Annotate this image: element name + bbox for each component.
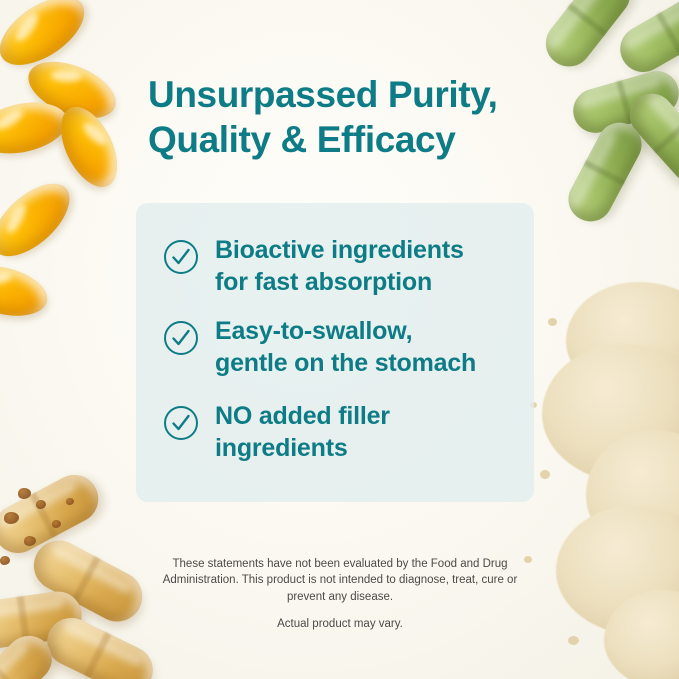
check-circle-icon bbox=[163, 405, 199, 441]
benefit-line-1: Bioactive ingredients bbox=[215, 236, 464, 264]
benefit-text: Easy-to-swallow, gentle on the stomach bbox=[215, 316, 515, 379]
headline-line-2: Quality & Efficacy bbox=[148, 117, 578, 162]
powder-speck bbox=[540, 470, 550, 479]
headline-line-1: Unsurpassed Purity, bbox=[148, 72, 578, 117]
benefit-text: Bioactive ingredients for fast absorptio… bbox=[215, 235, 515, 298]
product-infographic: Unsurpassed Purity, Quality & Efficacy B… bbox=[0, 0, 679, 679]
granule-icon bbox=[0, 556, 10, 565]
benefit-item: Bioactive ingredients for fast absorptio… bbox=[163, 235, 515, 298]
check-circle-icon bbox=[163, 320, 199, 356]
page-title: Unsurpassed Purity, Quality & Efficacy bbox=[148, 72, 578, 162]
softgel-capsule-icon bbox=[0, 171, 82, 270]
benefits-card: Bioactive ingredients for fast absorptio… bbox=[136, 203, 534, 502]
benefit-line-2: for fast absorption bbox=[215, 268, 432, 296]
benefit-item: NO added filler ingredients bbox=[163, 401, 515, 464]
benefit-text: NO added filler ingredients bbox=[215, 401, 515, 464]
benefit-line-1: NO added filler bbox=[215, 402, 390, 430]
benefit-line-1: Easy-to-swallow, bbox=[215, 317, 412, 345]
benefit-line-2: ingredients bbox=[215, 434, 348, 462]
check-circle-icon bbox=[163, 239, 199, 275]
softgel-capsule-icon bbox=[0, 258, 52, 324]
product-variation-note: Actual product may vary. bbox=[150, 618, 530, 630]
benefit-item: Easy-to-swallow, gentle on the stomach bbox=[163, 316, 515, 379]
fda-disclaimer: These statements have not been evaluated… bbox=[150, 556, 530, 605]
benefit-line-2: gentle on the stomach bbox=[215, 349, 476, 377]
powder-speck bbox=[568, 636, 579, 645]
powder-speck bbox=[548, 318, 557, 326]
